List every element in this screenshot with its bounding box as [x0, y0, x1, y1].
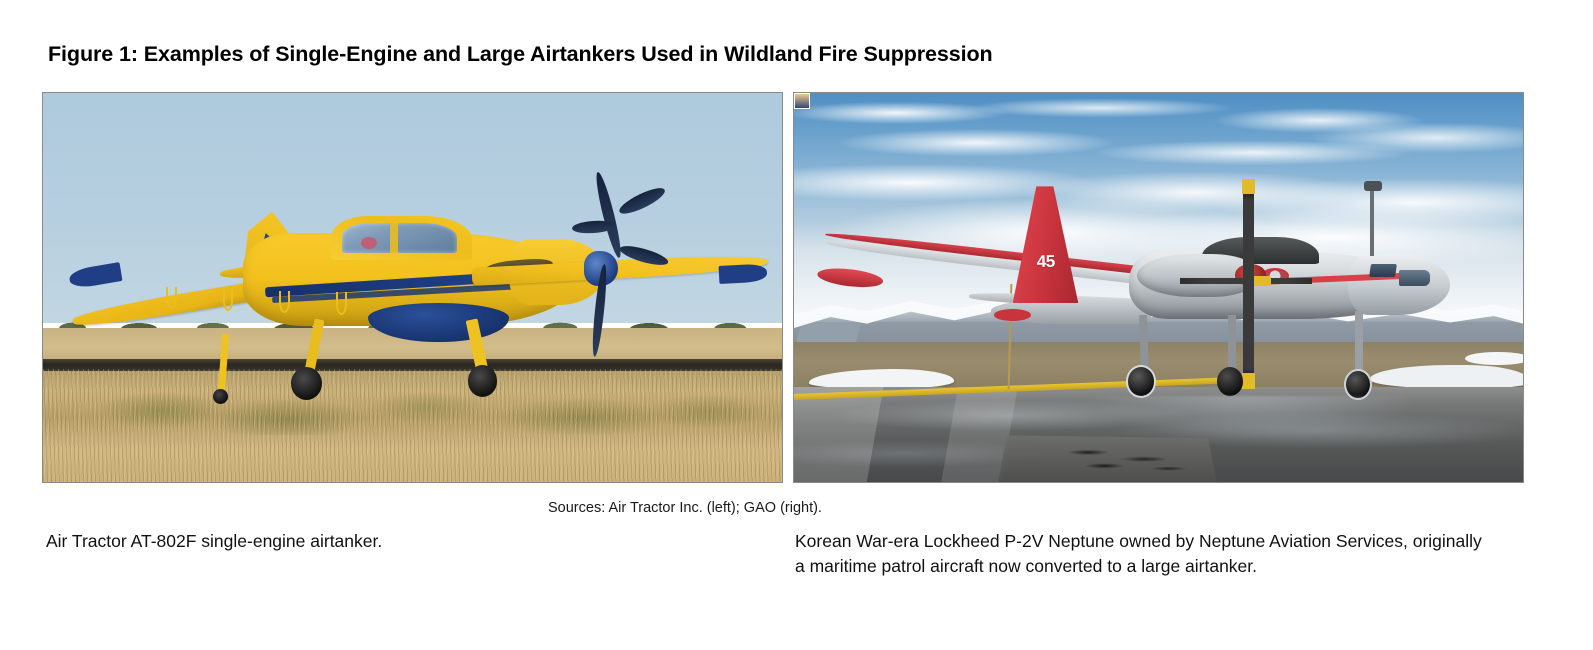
red-vertical-tail	[1013, 186, 1079, 303]
lockheed-p2v-neptune-aircraft: 45	[794, 93, 1523, 482]
left-main-wheel	[291, 367, 322, 400]
photo-left-air-tractor	[42, 92, 783, 483]
photo-right-p2v-neptune: 45	[793, 92, 1524, 483]
propeller-tip-yellow-top	[1242, 179, 1254, 195]
antenna-pod	[1364, 181, 1381, 191]
left-photo-scene	[43, 93, 782, 482]
cockpit-windscreen	[1399, 270, 1430, 286]
nose-gear-leg	[1355, 311, 1362, 377]
antenna-mast	[1370, 186, 1374, 256]
air-tractor-at802f-aircraft	[43, 93, 782, 482]
cockpit-glass	[342, 223, 457, 253]
right-photo-scene: 45	[794, 93, 1523, 482]
right-main-wheel	[468, 365, 498, 397]
red-wingtip-tank	[817, 265, 884, 289]
canopy-frame-bar	[390, 223, 398, 253]
left-main-wheel	[1126, 365, 1157, 398]
sources-note: Sources: Air Tractor Inc. (left); GAO (r…	[548, 500, 822, 516]
propeller-tip-yellow-bottom	[1242, 373, 1254, 389]
propeller	[553, 171, 671, 366]
wing-spray-brackets	[102, 280, 457, 315]
tail-boom-red-tip	[994, 309, 1030, 321]
caption-right: Korean War-era Lockheed P-2V Neptune own…	[795, 529, 1485, 578]
tailwheel	[213, 389, 229, 405]
tail-number: 45	[1013, 252, 1079, 273]
page-title: Figure 1: Examples of Single-Engine and …	[48, 42, 993, 67]
tailwheel-strut	[218, 334, 229, 393]
wing-leading-edge-red	[825, 231, 1174, 279]
fuselage-side-window	[1369, 264, 1397, 277]
tail-logo-badge	[794, 93, 810, 109]
center-wheel	[1217, 367, 1243, 396]
propeller-blade-vertical	[1243, 179, 1254, 389]
center-gear-leg	[1228, 315, 1236, 373]
caption-left: Air Tractor AT-802F single-engine airtan…	[46, 529, 746, 554]
right-wingtip-blue	[719, 263, 768, 283]
aircraft-reflection	[1086, 396, 1414, 439]
